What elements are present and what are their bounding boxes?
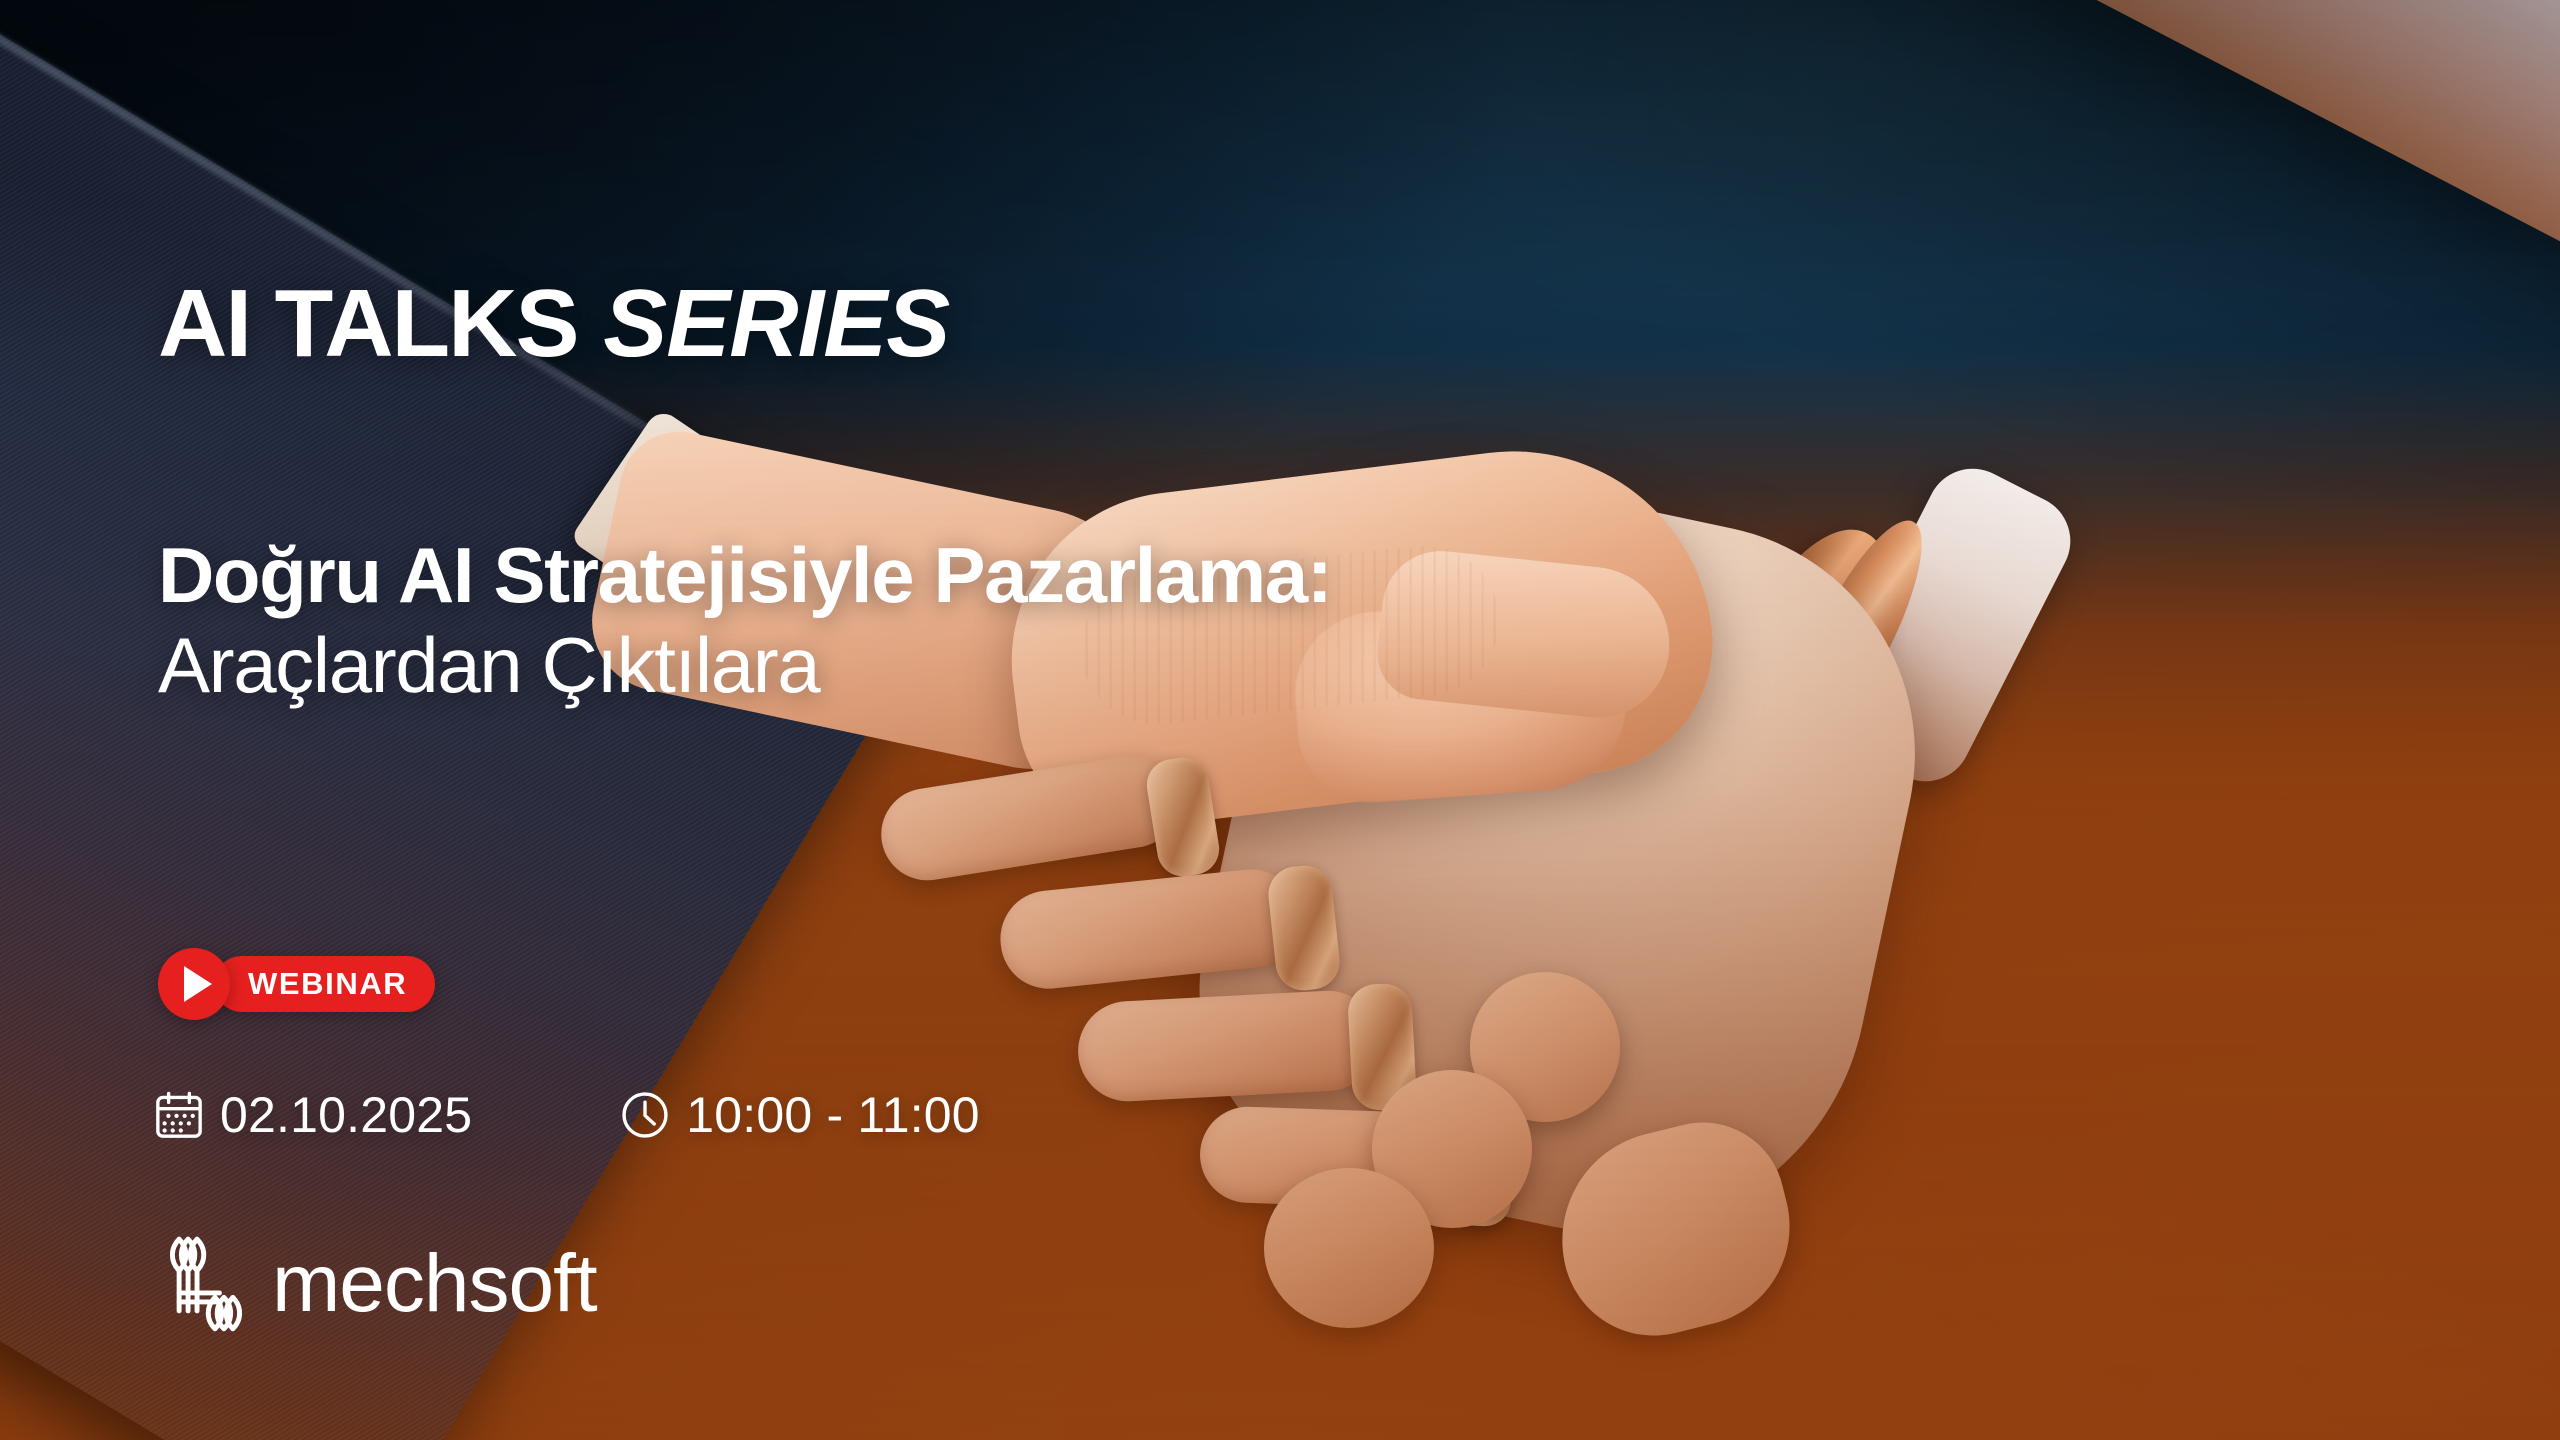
series-kicker: AI TALKS SERIES [158, 276, 949, 372]
headline-strong: Doğru AI Stratejisiyle Pazarlama: [158, 531, 1331, 619]
headline-light: Araçlardan Çıktılara [158, 621, 819, 709]
webinar-promo-banner: AI TALKS SERIES Doğru AI Stratejisiyle P… [0, 0, 2560, 1440]
series-kicker-italic: SERIES [603, 270, 949, 377]
mechsoft-weave-icon [150, 1228, 262, 1340]
event-time: 10:00 - 11:00 [618, 1086, 980, 1144]
event-time-value: 10:00 - 11:00 [686, 1086, 980, 1144]
play-button[interactable] [158, 948, 230, 1020]
event-date: 02.10.2025 [152, 1086, 472, 1144]
webinar-badge[interactable]: WEBINAR [158, 948, 435, 1020]
event-date-value: 02.10.2025 [220, 1086, 472, 1144]
play-icon [184, 966, 212, 1002]
brand-logo[interactable]: mechsoft [150, 1228, 597, 1340]
event-meta: 02.10.2025 10:00 - 11:00 [152, 1086, 980, 1144]
brand-wordmark: mechsoft [272, 1243, 597, 1325]
calendar-icon [152, 1088, 206, 1142]
series-kicker-bold: AI TALKS [158, 270, 578, 377]
clock-icon [618, 1088, 672, 1142]
webinar-pill: WEBINAR [214, 956, 435, 1012]
webinar-label: WEBINAR [248, 966, 407, 1002]
page-title: Doğru AI Stratejisiyle Pazarlama: Araçla… [158, 530, 1338, 711]
banner-content: AI TALKS SERIES Doğru AI Stratejisiyle P… [0, 0, 2560, 1440]
